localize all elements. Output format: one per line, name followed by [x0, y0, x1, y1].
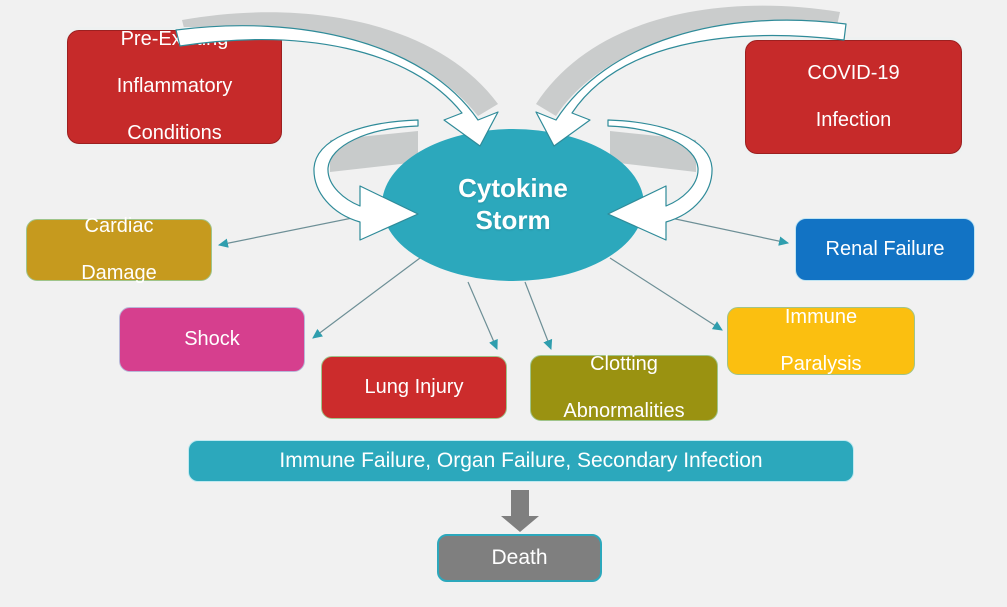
node-cardiac-damage[interactable]: CardiacDamage — [26, 219, 212, 281]
edge-hub-to-immune-paralysis — [610, 258, 722, 330]
node-label: Lung Injury — [322, 376, 506, 400]
hub-label-line2: Storm — [458, 205, 568, 237]
down-arrow-to-death — [501, 490, 539, 532]
node-pre-existing-inflammatory-conditions[interactable]: Pre-ExistingInflammatoryConditions — [67, 30, 282, 144]
node-label: Death — [439, 546, 600, 571]
node-death[interactable]: Death — [437, 534, 602, 582]
edge-hub-to-lung-injury — [468, 282, 497, 349]
node-label: CardiacDamage — [27, 215, 211, 286]
node-label: Renal Failure — [796, 238, 974, 262]
node-summary-bar[interactable]: Immune Failure, Organ Failure, Secondary… — [188, 440, 854, 482]
node-immune-paralysis[interactable]: ImmuneParalysis — [727, 307, 915, 375]
node-label: Immune Failure, Organ Failure, Secondary… — [189, 449, 853, 474]
node-clotting-abnormalities[interactable]: ClottingAbnormalities — [530, 355, 718, 421]
node-covid-19-infection[interactable]: COVID-19Infection — [745, 40, 962, 154]
edge-hub-to-shock — [313, 258, 420, 338]
hub-label: Cytokine Storm — [458, 173, 568, 236]
node-label: Shock — [120, 328, 304, 352]
edge-hub-to-cardiac-damage — [219, 210, 392, 245]
node-shock[interactable]: Shock — [119, 307, 305, 372]
node-lung-injury[interactable]: Lung Injury — [321, 356, 507, 419]
hub-label-line1: Cytokine — [458, 173, 568, 205]
node-renal-failure[interactable]: Renal Failure — [795, 218, 975, 281]
hub-cytokine-storm[interactable]: Cytokine Storm — [382, 129, 644, 281]
edge-hub-to-renal-failure — [638, 211, 788, 243]
node-label: ClottingAbnormalities — [531, 353, 717, 424]
node-label: ImmuneParalysis — [728, 306, 914, 377]
node-label: Pre-ExistingInflammatoryConditions — [68, 28, 281, 146]
edge-hub-to-clotting-abnormalities — [525, 282, 551, 349]
diagram-canvas: Cytokine Storm Pre-ExistingInflammatoryC… — [0, 0, 1007, 607]
node-label: COVID-19Infection — [746, 62, 961, 133]
